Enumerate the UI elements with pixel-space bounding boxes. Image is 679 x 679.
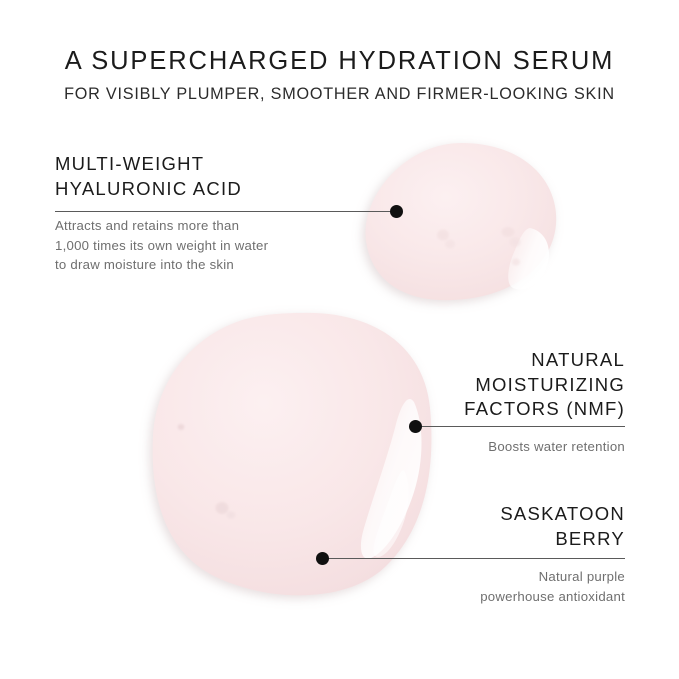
- connector-dot-hyaluronic: [390, 205, 403, 218]
- product-ingredient-infographic: A SUPERCHARGED HYDRATION SERUM FOR VISIB…: [0, 0, 679, 679]
- callout-natural-moisturizing-factors: NATURAL MOISTURIZING FACTORS (NMF) Boost…: [345, 348, 625, 456]
- callout-saskatoon-berry: SASKATOON BERRY Natural purple powerhous…: [345, 502, 625, 606]
- callout-heading: NATURAL MOISTURIZING FACTORS (NMF): [345, 348, 625, 422]
- connector-line-nmf: [421, 426, 625, 427]
- page-title: A SUPERCHARGED HYDRATION SERUM: [0, 47, 679, 76]
- callout-heading: MULTI-WEIGHT HYALURONIC ACID: [55, 152, 355, 201]
- connector-line-hyaluronic: [55, 211, 396, 212]
- header: A SUPERCHARGED HYDRATION SERUM FOR VISIB…: [0, 47, 679, 104]
- serum-droplet-small: [365, 143, 556, 300]
- droplet-small-bubbles: [437, 227, 521, 266]
- connector-dot-nmf: [409, 420, 422, 433]
- callout-description: Attracts and retains more than 1,000 tim…: [55, 216, 355, 274]
- callout-description: Boosts water retention: [345, 437, 625, 456]
- connector-line-saskatoon: [328, 558, 625, 559]
- callout-heading: SASKATOON BERRY: [345, 502, 625, 551]
- page-subtitle: FOR VISIBLY PLUMPER, SMOOTHER AND FIRMER…: [0, 85, 679, 104]
- callout-description: Natural purple powerhouse antioxidant: [345, 567, 625, 606]
- callout-multi-weight-hyaluronic-acid: MULTI-WEIGHT HYALURONIC ACID Attracts an…: [55, 152, 355, 274]
- droplet-small-highlight: [508, 228, 549, 290]
- connector-dot-saskatoon: [316, 552, 329, 565]
- droplet-large-bubbles: [178, 424, 236, 519]
